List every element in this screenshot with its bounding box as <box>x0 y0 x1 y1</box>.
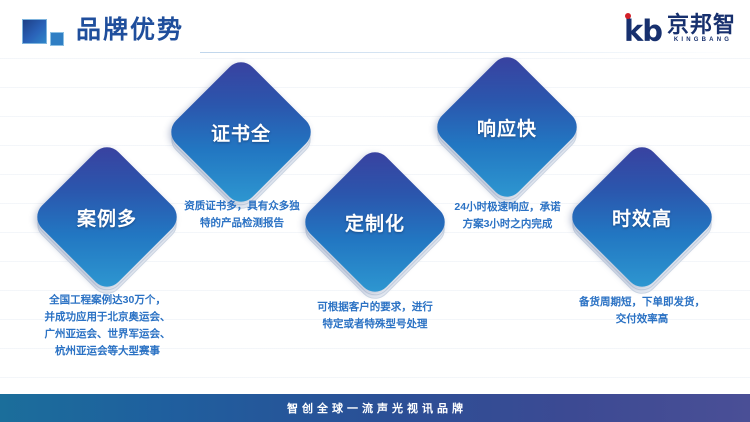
logo-red-dot-icon <box>625 13 631 19</box>
square-marker-small-icon <box>50 32 64 46</box>
diamond-shape: 响应快 <box>453 73 561 181</box>
logo-english-name: KINGBANG <box>671 36 732 45</box>
logo-mark-text: kb <box>624 14 662 48</box>
slide-footer: 智创全球一流声光视讯品牌 <box>0 394 750 422</box>
logo-chinese-name: 京邦智 <box>667 14 736 36</box>
advantage-description-customization: 可根据客户的要求，进行 特定或者特殊型号处理 <box>285 299 465 333</box>
diamond-label: 案例多 <box>53 163 161 271</box>
logo-wordmark: 京邦智 KINGBANG <box>667 14 736 46</box>
advantage-card-response[interactable]: 响应快 <box>453 73 561 181</box>
advantage-card-customization[interactable]: 定制化 <box>321 168 429 276</box>
diamond-label: 响应快 <box>453 73 561 181</box>
diamond-shape: 证书全 <box>187 78 295 186</box>
advantage-description-response: 24小时极速响应，承诺 方案3小时之内完成 <box>420 199 595 233</box>
advantage-card-certificate[interactable]: 证书全 <box>187 78 295 186</box>
advantage-card-efficiency[interactable]: 时效高 <box>588 163 696 271</box>
advantage-card-case[interactable]: 案例多 <box>53 163 161 271</box>
square-marker-large-icon <box>22 19 47 44</box>
diamond-shape: 时效高 <box>588 163 696 271</box>
diamond-shape: 案例多 <box>53 163 161 271</box>
slide-canvas: 品牌优势 kb 京邦智 KINGBANG 案例多 全国工程案例达30万个， 并成… <box>0 0 750 422</box>
diamond-shape: 定制化 <box>321 168 429 276</box>
footer-slogan: 智创全球一流声光视讯品牌 <box>283 400 467 416</box>
advantage-description-efficiency: 备货周期短，下单即发货， 交付效率高 <box>552 294 732 328</box>
advantage-description-case: 全国工程案例达30万个， 并成功应用于北京奥运会、 广州亚运会、世界军运会、 杭… <box>10 292 205 360</box>
diamond-label: 时效高 <box>588 163 696 271</box>
diamond-label: 证书全 <box>187 78 295 186</box>
page-title: 品牌优势 <box>76 13 184 47</box>
brand-logo: kb 京邦智 KINGBANG <box>624 14 736 46</box>
header-divider <box>200 52 720 53</box>
logo-mark-kb: kb <box>624 17 662 46</box>
diamond-label: 定制化 <box>321 168 429 276</box>
